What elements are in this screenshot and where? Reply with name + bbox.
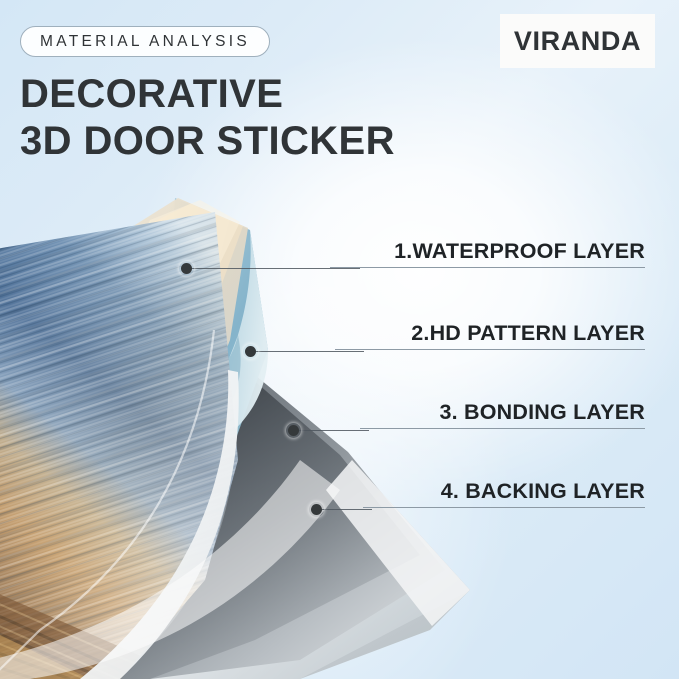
- brand-logo: VIRANDA: [500, 14, 655, 68]
- layer-label-3: 3. BONDING LAYER: [360, 401, 645, 429]
- leader-line-1: [192, 268, 360, 269]
- layer-marker-dot-1: [181, 263, 192, 274]
- layer-marker-dot-3: [288, 425, 299, 436]
- layer-label-1: 1.WATERPROOF LAYER: [330, 240, 645, 268]
- leader-line-2: [256, 351, 364, 352]
- brand-logo-text: VIRANDA: [514, 26, 641, 57]
- leader-line-3: [299, 430, 369, 431]
- leader-line-4: [322, 509, 372, 510]
- layer-label-4: 4. BACKING LAYER: [363, 480, 645, 508]
- page-title-line1: DECORATIVE: [20, 72, 283, 117]
- material-analysis-badge: MATERIAL ANALYSIS: [20, 26, 270, 57]
- layer-label-2: 2.HD PATTERN LAYER: [335, 322, 645, 350]
- layer-marker-dot-4: [311, 504, 322, 515]
- poster-canvas: MATERIAL ANALYSIS DECORATIVE 3D DOOR STI…: [0, 0, 679, 679]
- page-title-line2: 3D DOOR STICKER: [20, 119, 395, 164]
- badge-label: MATERIAL ANALYSIS: [40, 33, 250, 51]
- layer-marker-dot-2: [245, 346, 256, 357]
